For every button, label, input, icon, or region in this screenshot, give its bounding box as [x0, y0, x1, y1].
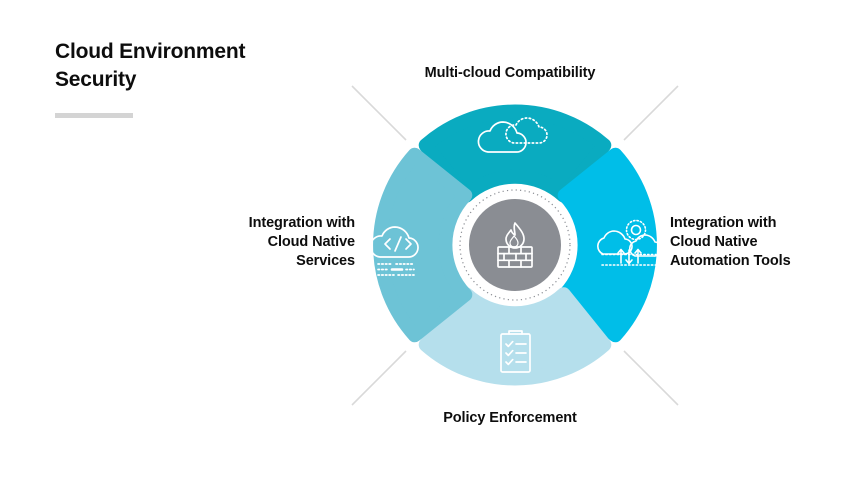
connector-line-bottom-right: [624, 351, 678, 405]
donut-diagram: [340, 78, 690, 413]
segment-label-integration-cloud-native-automation-tools: Integration with Cloud Native Automation…: [670, 214, 868, 271]
segment-left-integration-cloud-native-services[interactable]: [380, 155, 465, 336]
connector-line-top-right: [624, 86, 678, 140]
connector-line-bottom-left: [352, 351, 406, 405]
segment-label-integration-cloud-native-services: Integration with Cloud Native Services: [140, 214, 355, 271]
title-underline-rule: [55, 113, 133, 118]
center-circle-firewall[interactable]: [469, 199, 561, 291]
title-block: Cloud Environment Security: [55, 38, 355, 118]
center-hub: [460, 190, 570, 300]
page-title: Cloud Environment Security: [55, 38, 355, 95]
connector-line-top-left: [352, 86, 406, 140]
